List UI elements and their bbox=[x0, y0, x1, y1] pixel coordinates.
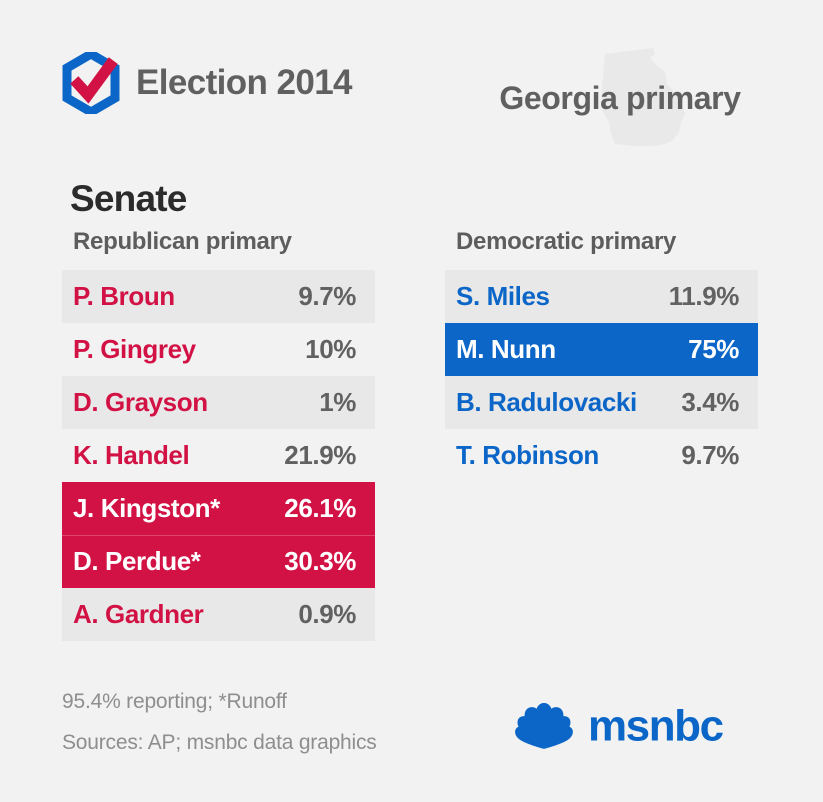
candidate-name: D. Grayson bbox=[73, 387, 208, 418]
header: Election 2014 Georgia primary bbox=[0, 0, 823, 165]
svg-text:msnbc: msnbc bbox=[588, 705, 724, 749]
candidate-percent: 3.4% bbox=[681, 387, 739, 418]
table-row[interactable]: D. Grayson 1% bbox=[62, 376, 375, 429]
republican-results-list: P. Broun 9.7% P. Gingrey 10% D. Grayson … bbox=[62, 270, 375, 641]
table-row[interactable]: T. Robinson 9.7% bbox=[445, 429, 758, 482]
candidate-percent: 21.9% bbox=[284, 440, 356, 471]
democratic-primary-column: Democratic primary S. Miles 11.9% M. Nun… bbox=[445, 228, 758, 482]
page-title: Senate bbox=[70, 178, 187, 220]
candidate-percent: 10% bbox=[305, 334, 356, 365]
candidate-name: S. Miles bbox=[456, 281, 550, 312]
brand-title: Election 2014 bbox=[136, 63, 352, 103]
candidate-name: A. Gardner bbox=[73, 599, 203, 630]
table-row[interactable]: B. Radulovacki 3.4% bbox=[445, 376, 758, 429]
candidate-name: P. Broun bbox=[73, 281, 175, 312]
state-title: Georgia primary bbox=[460, 80, 780, 117]
candidate-name: P. Gingrey bbox=[73, 334, 196, 365]
msnbc-peacock-logo bbox=[513, 702, 575, 752]
table-row[interactable]: A. Gardner 0.9% bbox=[62, 588, 375, 641]
table-row[interactable]: S. Miles 11.9% bbox=[445, 270, 758, 323]
table-row-highlighted[interactable]: M. Nunn 75% bbox=[445, 323, 758, 376]
column-header-democratic: Democratic primary bbox=[456, 228, 758, 256]
republican-primary-column: Republican primary P. Broun 9.7% P. Ging… bbox=[62, 228, 375, 641]
msnbc-wordmark: msnbc bbox=[588, 705, 789, 749]
candidate-percent: 1% bbox=[319, 387, 356, 418]
footer: 95.4% reporting; *Runoff Sources: AP; ms… bbox=[0, 690, 823, 802]
state-block: Georgia primary bbox=[460, 40, 780, 160]
table-row[interactable]: P. Gingrey 10% bbox=[62, 323, 375, 376]
candidate-name: T. Robinson bbox=[456, 440, 599, 471]
msnbc-logo: msnbc bbox=[513, 702, 789, 752]
column-header-republican: Republican primary bbox=[73, 228, 375, 256]
candidate-percent: 30.3% bbox=[284, 546, 356, 577]
candidate-name: D. Perdue* bbox=[73, 546, 201, 577]
candidate-percent: 9.7% bbox=[298, 281, 356, 312]
candidate-percent: 0.9% bbox=[298, 599, 356, 630]
candidate-name: M. Nunn bbox=[456, 334, 556, 365]
candidate-name: J. Kingston* bbox=[73, 493, 220, 524]
reporting-note: 95.4% reporting; *Runoff bbox=[62, 690, 287, 714]
brand: Election 2014 bbox=[62, 52, 352, 114]
democratic-results-list: S. Miles 11.9% M. Nunn 75% B. Radulovack… bbox=[445, 270, 758, 482]
table-row[interactable]: P. Broun 9.7% bbox=[62, 270, 375, 323]
sources-note: Sources: AP; msnbc data graphics bbox=[62, 731, 377, 755]
election-check-hexagon-icon bbox=[62, 52, 120, 114]
candidate-percent: 26.1% bbox=[284, 493, 356, 524]
candidate-percent: 75% bbox=[688, 334, 739, 365]
table-row-highlighted[interactable]: J. Kingston* 26.1% bbox=[62, 482, 375, 535]
table-row[interactable]: K. Handel 21.9% bbox=[62, 429, 375, 482]
candidate-percent: 9.7% bbox=[681, 440, 739, 471]
candidate-name: B. Radulovacki bbox=[456, 387, 637, 418]
table-row-highlighted[interactable]: D. Perdue* 30.3% bbox=[62, 535, 375, 588]
candidate-percent: 11.9% bbox=[669, 281, 739, 312]
candidate-name: K. Handel bbox=[73, 440, 189, 471]
